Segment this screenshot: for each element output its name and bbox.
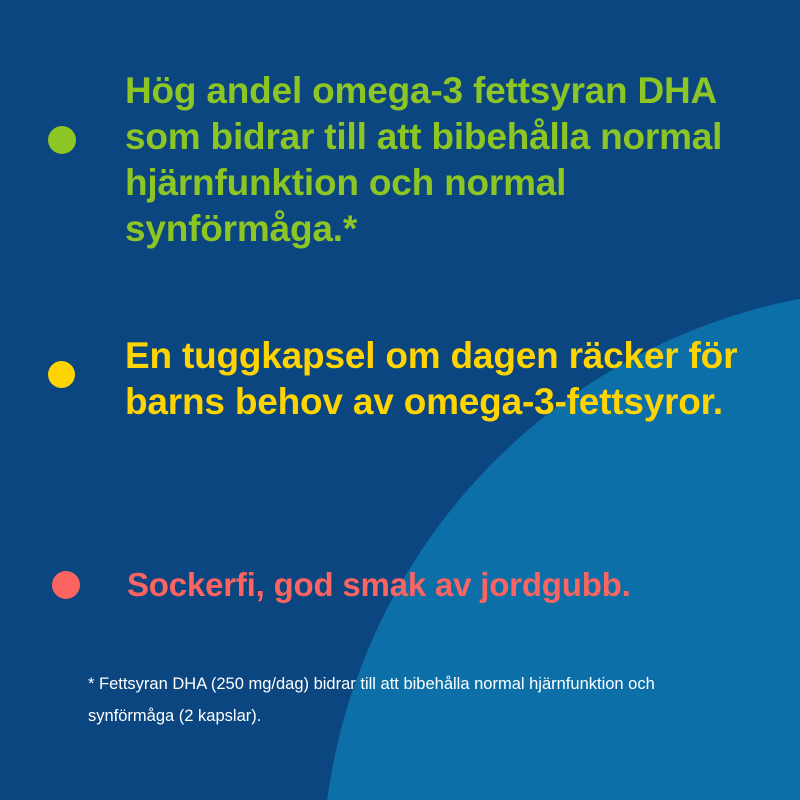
footnote-disclaimer: * Fettsyran DHA (250 mg/dag) bidrar till… (88, 668, 688, 732)
benefit-text-3: Sockerfi, god smak av jordgubb. (127, 565, 631, 605)
benefit-item-1: Hög andel omega-3 fettsyran DHA som bidr… (48, 68, 785, 252)
benefit-item-3: Sockerfi, god smak av jordgubb. (52, 565, 631, 605)
bullet-dot-coral-icon (52, 571, 80, 599)
bullet-dot-green-icon (48, 126, 76, 154)
benefit-item-2: En tuggkapsel om dagen räcker för barns … (48, 333, 745, 425)
benefit-text-2: En tuggkapsel om dagen räcker för barns … (125, 333, 745, 425)
benefit-text-1: Hög andel omega-3 fettsyran DHA som bidr… (125, 68, 785, 252)
product-benefits-poster: Hög andel omega-3 fettsyran DHA som bidr… (0, 0, 800, 800)
bullet-dot-yellow-icon (48, 361, 75, 388)
poster-content: Hög andel omega-3 fettsyran DHA som bidr… (0, 0, 800, 800)
